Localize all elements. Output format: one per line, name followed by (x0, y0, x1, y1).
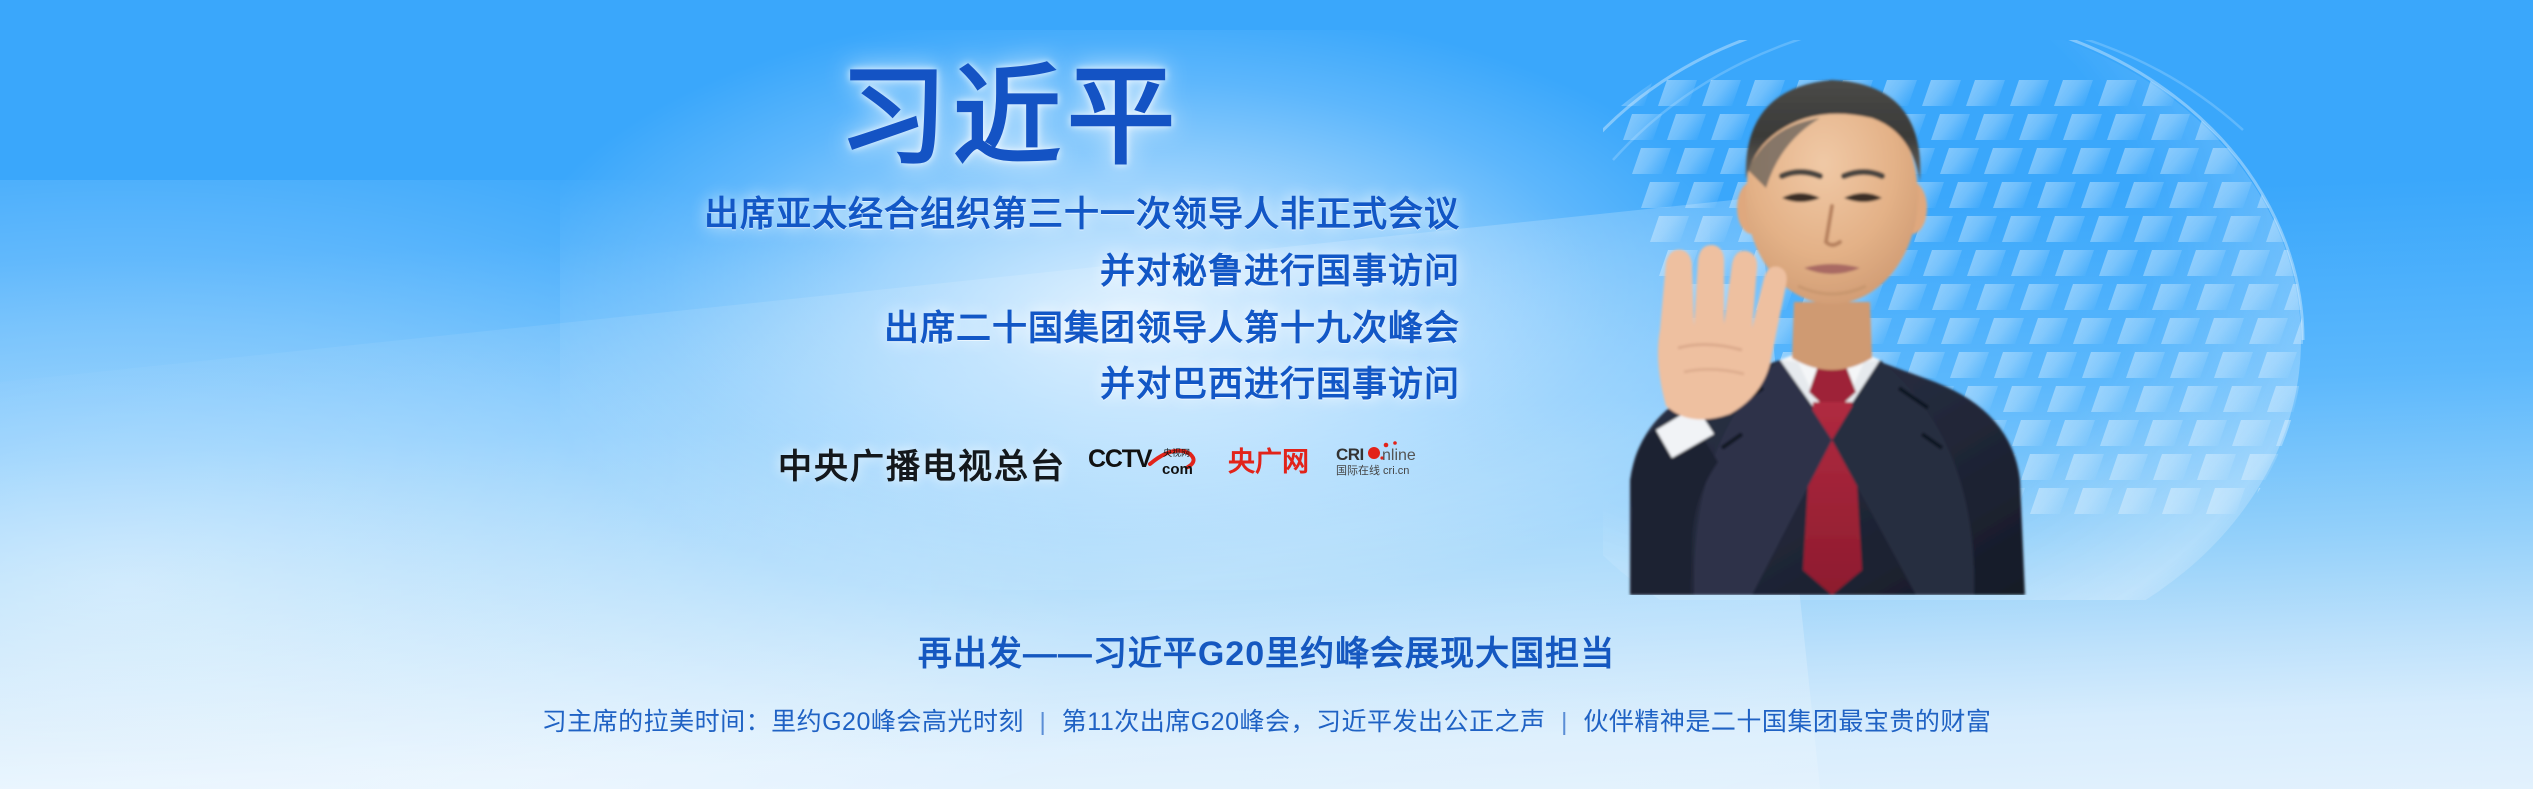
page-title: 习近平 (560, 60, 1460, 173)
footer-link-1[interactable]: 习主席的拉美时间：里约G20峰会高光时刻 (542, 708, 1024, 736)
subtitle-line-2: 并对秘鲁进行国事访问 (560, 244, 1460, 301)
footer-link-separator-1: | (1031, 708, 1054, 736)
cri-online-logo[interactable]: CRI nline 国际在线 cri.cn (1336, 440, 1460, 484)
portrait-image (1480, 10, 2120, 595)
broadcaster-row: 中央广播电视总台 CCTV 央视网 com 央广网 (560, 440, 1460, 484)
subtitle-line-1: 出席亚太经合组织第三十一次领导人非正式会议 (560, 187, 1460, 244)
news-banner: 习近平 出席亚太经合组织第三十一次领导人非正式会议 并对秘鲁进行国事访问 出席二… (0, 0, 2533, 789)
cri-logo-main: CRI (1336, 445, 1364, 464)
cnr-logo-text: 央广网 (1228, 447, 1309, 477)
cctv-logo-cn: 央视网 (1163, 447, 1190, 458)
cnr-logo[interactable]: 央广网 (1228, 440, 1314, 484)
footer-link-row: 习主席的拉美时间：里约G20峰会高光时刻 | 第11次出席G20峰会，习近平发出… (0, 702, 2533, 738)
cri-logo-sub: 国际在线 cri.cn (1336, 463, 1409, 477)
globe-grid-graphic (1603, 40, 2383, 600)
cctv-com-logo[interactable]: CCTV 央视网 com (1088, 440, 1206, 484)
footer-headline[interactable]: 再出发——习近平G20里约峰会展现大国担当 (0, 626, 2533, 675)
footer-link-3[interactable]: 伙伴精神是二十国集团最宝贵的财富 (1583, 708, 1991, 736)
subtitle-line-4: 并对巴西进行国事访问 (560, 357, 1460, 414)
subtitle-line-3: 出席二十国集团领导人第十九次峰会 (560, 301, 1460, 358)
cctv-logo-text: CCTV (1088, 445, 1153, 473)
cri-logo-online: nline (1382, 447, 1416, 464)
banner-text-block: 习近平 出席亚太经合组织第三十一次领导人非正式会议 并对秘鲁进行国事访问 出席二… (560, 60, 1460, 484)
cctv-logo-com: com (1162, 461, 1193, 478)
footer-link-separator-2: | (1553, 708, 1576, 736)
footer-link-2[interactable]: 第11次出席G20峰会，习近平发出公正之声 (1062, 708, 1546, 736)
broadcaster-name: 中央广播电视总台 (778, 450, 1066, 484)
